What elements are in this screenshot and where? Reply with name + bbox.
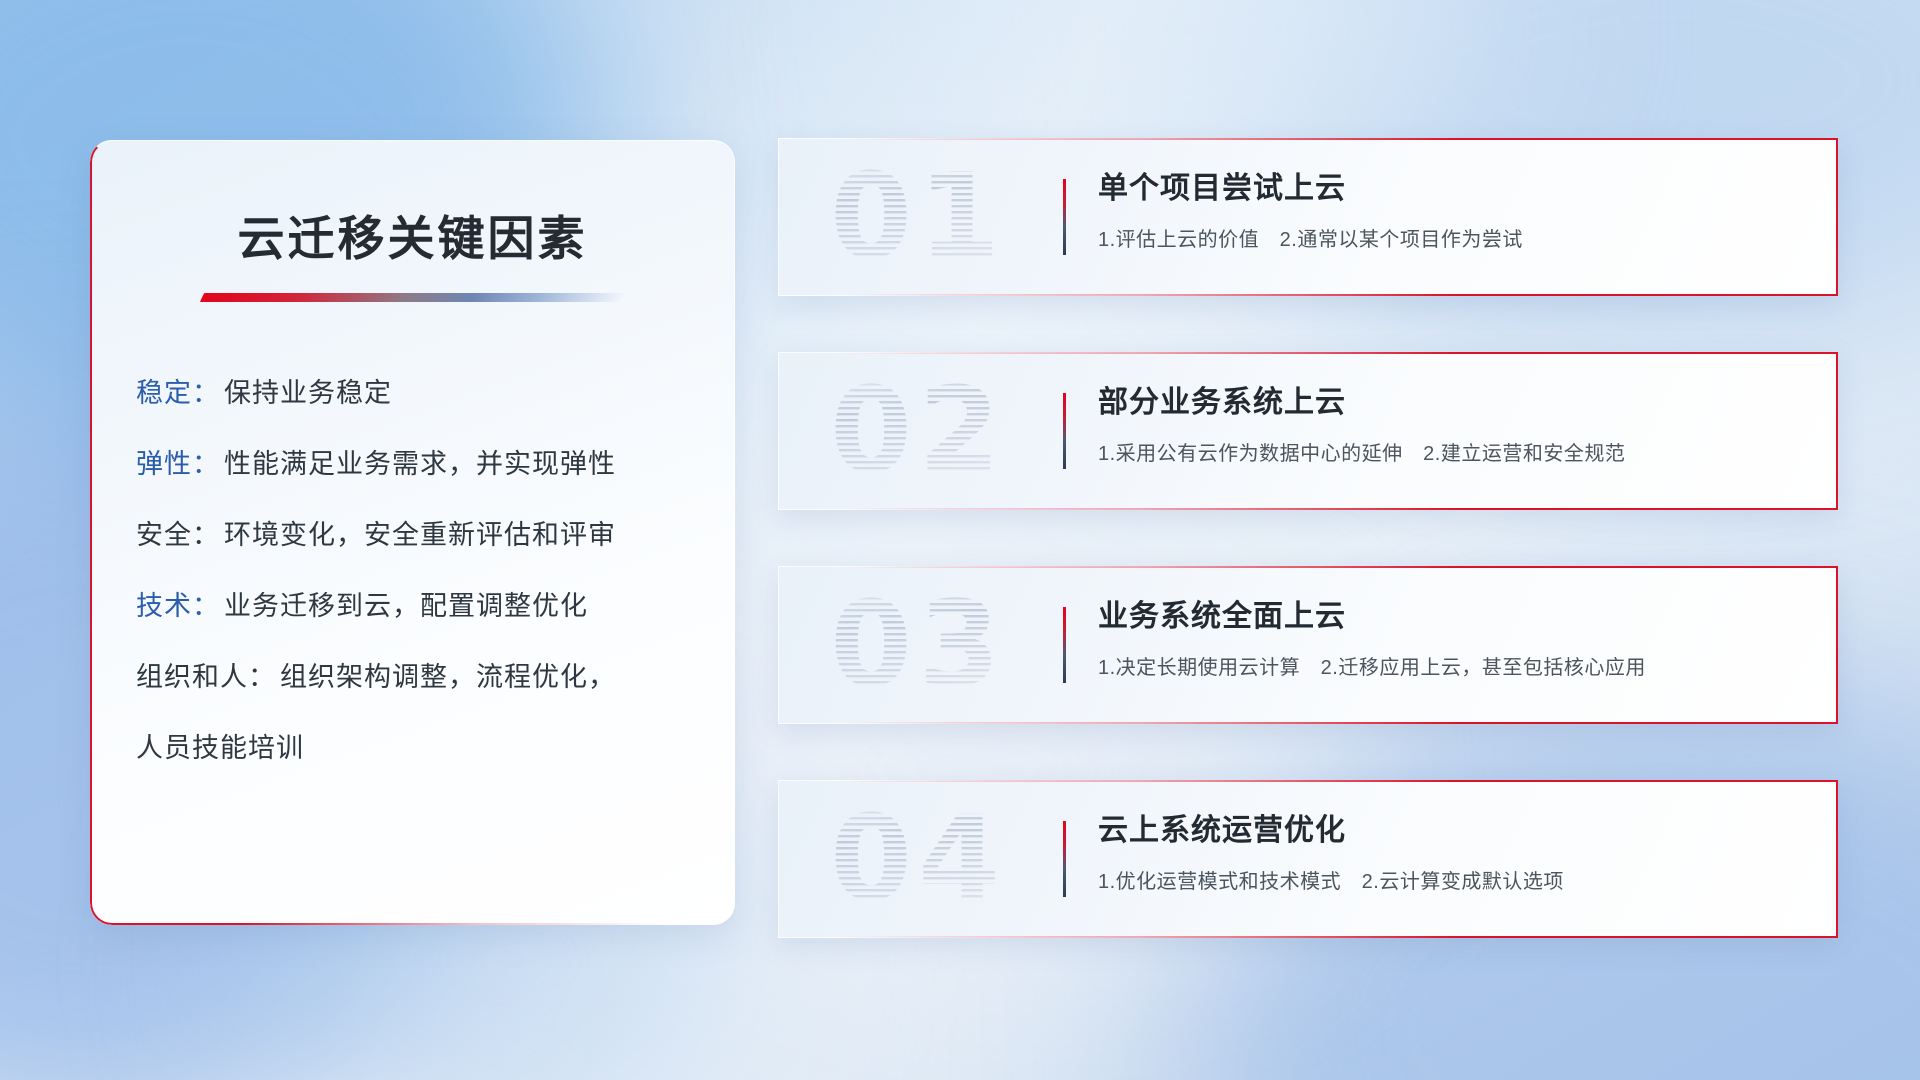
card-subtitle: 1.决定长期使用云计算 2.迁移应用上云，甚至包括核心应用 bbox=[1098, 651, 1798, 680]
card-heading: 云上系统运营优化 bbox=[1098, 814, 1798, 847]
list-item-label: 技术： bbox=[136, 591, 220, 621]
list-item: 技术：业务迁移到云，配置调整优化 bbox=[136, 593, 735, 620]
card-accent-bar bbox=[1063, 607, 1066, 683]
stage-card[interactable]: 03 业务系统全面上云 1.决定长期使用云计算 2.迁移应用上云，甚至包括核心应… bbox=[778, 566, 1838, 724]
list-item-label: 安全： bbox=[136, 520, 220, 550]
list-item: 组织和人：组织架构调整，流程优化， bbox=[136, 664, 735, 691]
stage-number-glyph: 04 bbox=[830, 799, 1050, 919]
svg-text:04: 04 bbox=[830, 799, 1006, 919]
list-item: 弹性：性能满足业务需求，并实现弹性 bbox=[136, 451, 735, 478]
card-content: 部分业务系统上云 1.采用公有云作为数据中心的延伸 2.建立运营和安全规范 bbox=[1098, 386, 1798, 466]
key-factors-panel: 云迁移关键因素 稳定：保持业务稳定 弹性：性能满足业务需求，并实现弹性 安全：环… bbox=[90, 140, 735, 925]
card-accent-bar bbox=[1063, 393, 1066, 469]
stage-card-list: 01 单个项目尝试上云 1.评估上云的价值 2.通常以某个项目作为尝试 bbox=[778, 138, 1838, 938]
card-content: 业务系统全面上云 1.决定长期使用云计算 2.迁移应用上云，甚至包括核心应用 bbox=[1098, 600, 1798, 680]
list-item: 安全：环境变化，安全重新评估和评审 bbox=[136, 522, 735, 549]
key-factors-list: 稳定：保持业务稳定 弹性：性能满足业务需求，并实现弹性 安全：环境变化，安全重新… bbox=[90, 380, 735, 762]
card-subtitle: 1.优化运营模式和技术模式 2.云计算变成默认选项 bbox=[1098, 865, 1798, 894]
list-item-label: 弹性： bbox=[136, 449, 220, 479]
card-heading: 单个项目尝试上云 bbox=[1098, 172, 1798, 205]
list-item-label: 稳定： bbox=[136, 378, 220, 408]
card-subtitle: 1.采用公有云作为数据中心的延伸 2.建立运营和安全规范 bbox=[1098, 437, 1798, 466]
list-item-continuation: 人员技能培训 bbox=[136, 735, 735, 762]
stage-card[interactable]: 02 部分业务系统上云 1.采用公有云作为数据中心的延伸 2.建立运营和安全规范 bbox=[778, 352, 1838, 510]
card-accent-bar bbox=[1063, 821, 1066, 897]
stage-card[interactable]: 04 云上系统运营优化 1.优化运营模式和技术模式 2.云计算变成默认选项 bbox=[778, 780, 1838, 938]
card-accent-bar bbox=[1063, 179, 1066, 255]
card-heading: 业务系统全面上云 bbox=[1098, 600, 1798, 633]
list-item-label: 组织和人： bbox=[136, 662, 276, 692]
svg-text:01: 01 bbox=[830, 157, 1006, 277]
list-item: 稳定：保持业务稳定 bbox=[136, 380, 735, 407]
card-content: 单个项目尝试上云 1.评估上云的价值 2.通常以某个项目作为尝试 bbox=[1098, 172, 1798, 252]
stage-number-glyph: 01 bbox=[830, 157, 1050, 277]
stage-number-glyph: 03 bbox=[830, 585, 1050, 705]
svg-text:03: 03 bbox=[830, 585, 1006, 705]
list-item-text: 环境变化，安全重新评估和评审 bbox=[224, 520, 616, 550]
card-heading: 部分业务系统上云 bbox=[1098, 386, 1798, 419]
list-item-text: 组织架构调整，流程优化， bbox=[280, 662, 616, 692]
svg-text:02: 02 bbox=[830, 371, 1006, 491]
stage-card[interactable]: 01 单个项目尝试上云 1.评估上云的价值 2.通常以某个项目作为尝试 bbox=[778, 138, 1838, 296]
list-item-text: 保持业务稳定 bbox=[224, 378, 392, 408]
title-underline-gradient bbox=[199, 293, 625, 302]
list-item-text: 性能满足业务需求，并实现弹性 bbox=[224, 449, 616, 479]
list-item-text: 业务迁移到云，配置调整优化 bbox=[224, 591, 588, 621]
card-subtitle: 1.评估上云的价值 2.通常以某个项目作为尝试 bbox=[1098, 223, 1798, 252]
page-title: 云迁移关键因素 bbox=[90, 200, 735, 269]
card-content: 云上系统运营优化 1.优化运营模式和技术模式 2.云计算变成默认选项 bbox=[1098, 814, 1798, 894]
stage-number-glyph: 02 bbox=[830, 371, 1050, 491]
